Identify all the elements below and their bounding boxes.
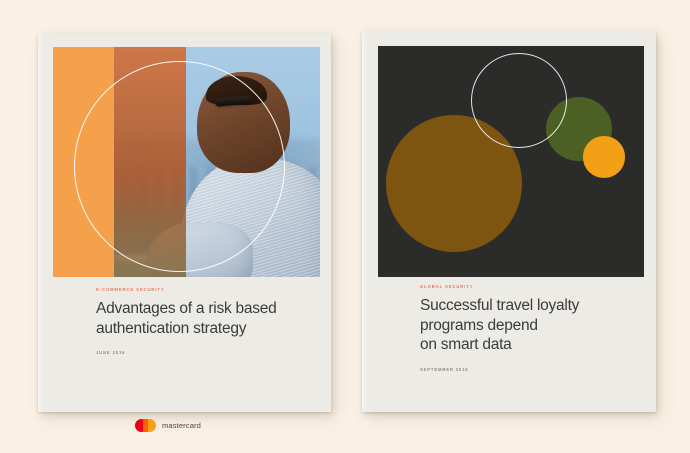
cover-copy-block: E-COMMERCE SECURITY Advantages of a risk… bbox=[96, 287, 311, 355]
cover-title: Successful travel loyalty programs depen… bbox=[420, 296, 636, 355]
cover-date: SEPTEMBER 2016 bbox=[420, 367, 636, 372]
report-card-travel-loyalty-smart-data[interactable]: GLOBAL SECURITY Successful travel loyalt… bbox=[362, 31, 656, 412]
circle-outline-overlay bbox=[74, 61, 285, 273]
report-showcase-canvas: E-COMMERCE SECURITY Advantages of a risk… bbox=[0, 0, 690, 453]
logo-overlap bbox=[143, 419, 148, 432]
circle-outline-overlay bbox=[471, 53, 567, 148]
cover-eyebrow: E-COMMERCE SECURITY bbox=[96, 287, 311, 292]
mastercard-lockup: mastercard bbox=[135, 419, 201, 432]
cover-artwork-abstract bbox=[378, 46, 644, 277]
mastercard-logo-icon bbox=[135, 419, 156, 432]
cover-copy-block: GLOBAL SECURITY Successful travel loyalt… bbox=[420, 284, 636, 372]
cover-artwork-photo bbox=[53, 47, 320, 277]
cover-title-line: Advantages of a risk based bbox=[96, 300, 276, 317]
cover-eyebrow: GLOBAL SECURITY bbox=[420, 284, 636, 289]
cover-title: Advantages of a risk based authenticatio… bbox=[96, 299, 311, 338]
cover-title-line: Successful travel loyalty bbox=[420, 297, 579, 314]
orange-disc bbox=[583, 136, 626, 178]
cover-title-line: programs depend bbox=[420, 317, 538, 334]
cover-title-line: on smart data bbox=[420, 336, 512, 353]
cover-title-line: authentication strategy bbox=[96, 320, 246, 337]
cover-date: JUNE 2016 bbox=[96, 350, 311, 355]
mastercard-wordmark: mastercard bbox=[162, 421, 201, 430]
report-card-risk-based-authentication[interactable]: E-COMMERCE SECURITY Advantages of a risk… bbox=[38, 33, 331, 412]
